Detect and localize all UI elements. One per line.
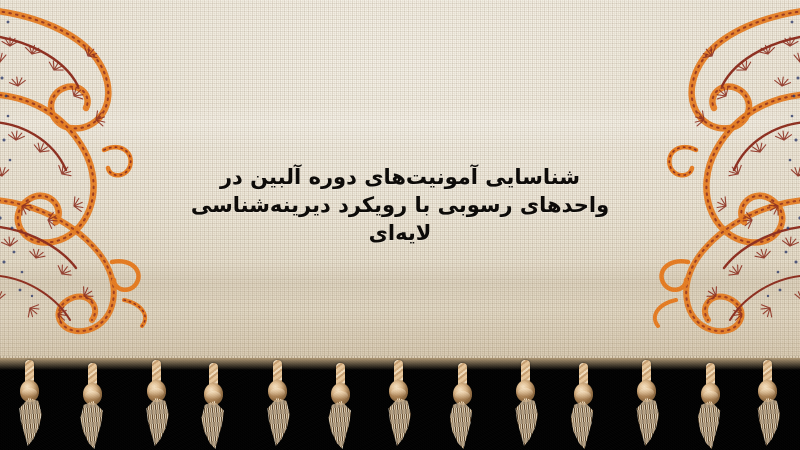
tassel-skirt: [450, 401, 475, 449]
tassel-skirt: [144, 398, 169, 446]
tassel-skirt: [80, 401, 105, 449]
tassel-skirt: [386, 398, 411, 446]
title-line-2: واحدهای رسوبی با رویکرد دیرینه‌شناسی: [0, 191, 800, 219]
tassel-skirt: [201, 401, 226, 449]
title-line-1: شناسایی آمونیت‌های دوره آلبین در: [0, 163, 800, 191]
fringe-tassel: [143, 360, 169, 446]
fringe-tassel: [697, 363, 723, 449]
title-line-3: لایه‌ای: [0, 219, 800, 247]
fringe-tassel: [327, 363, 353, 449]
title-overlay: شناسایی آمونیت‌های دوره آلبین در واحدهای…: [0, 163, 800, 247]
fringe-tassel: [512, 360, 538, 446]
tassel-skirt: [328, 401, 353, 449]
textile-image: شناسایی آمونیت‌های دوره آلبین در واحدهای…: [0, 0, 800, 450]
fringe-tassel: [79, 363, 105, 449]
tassel-skirt: [698, 401, 723, 449]
tassel-skirt: [265, 398, 290, 446]
fringe-tassel: [570, 363, 596, 449]
fringe-tassel: [385, 360, 411, 446]
fringe-row: [0, 358, 800, 450]
tassel-skirt: [755, 398, 780, 446]
fringe-tassel: [264, 360, 290, 446]
tassel-skirt: [634, 398, 659, 446]
fringe-tassel: [449, 363, 475, 449]
fringe-tassel: [200, 363, 226, 449]
tassel-skirt: [571, 401, 596, 449]
tassel-skirt: [513, 398, 538, 446]
tassel-skirt: [17, 398, 42, 446]
fringe-tassel: [633, 360, 659, 446]
fringe-tassel: [754, 360, 780, 446]
fringe-tassel: [16, 360, 42, 446]
